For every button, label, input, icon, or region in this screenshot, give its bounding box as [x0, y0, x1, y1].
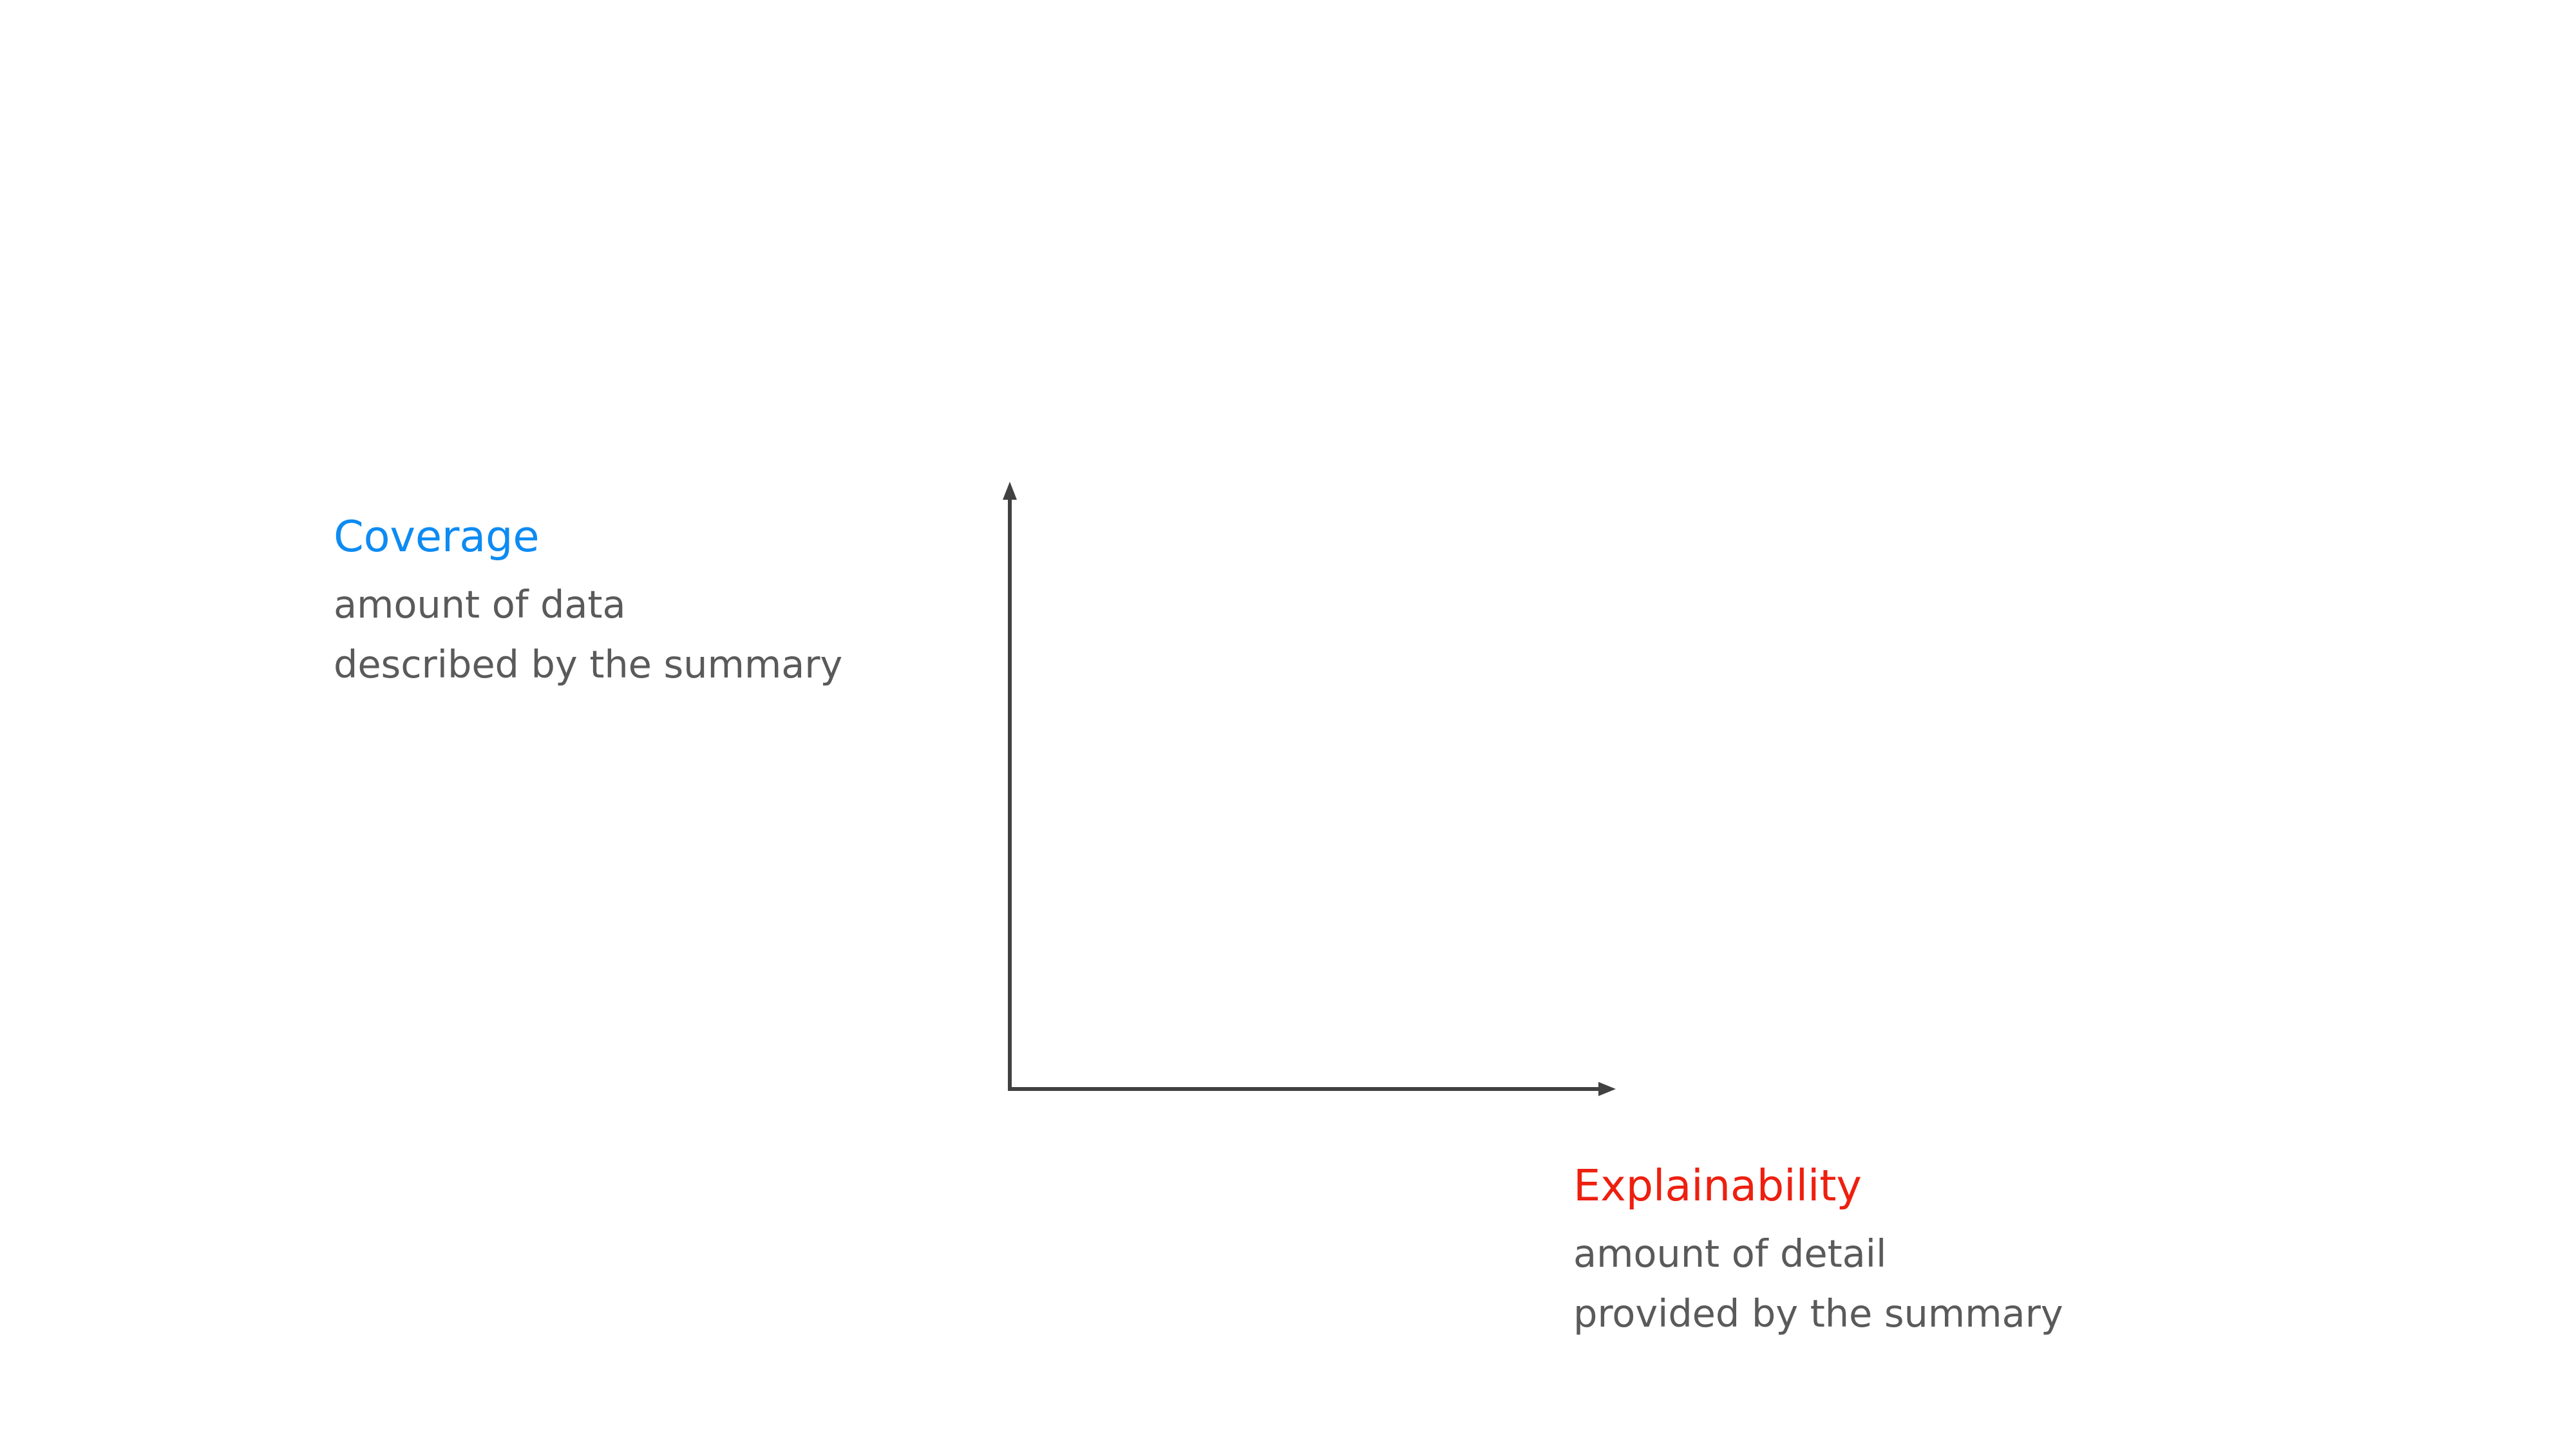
explainability-description-line-1: amount of detail [1573, 1235, 2063, 1273]
coverage-description-line-1: amount of data [334, 585, 842, 623]
y-axis-arrowhead-icon [1003, 482, 1017, 500]
coverage-axis-label-block: Coverage amount of data described by the… [334, 515, 842, 683]
explainability-axis-label-block: Explainability amount of detail provided… [1573, 1164, 2063, 1332]
coverage-axis-title: Coverage [334, 515, 842, 558]
axes-diagram [0, 0, 2576, 1449]
x-axis-arrowhead-icon [1598, 1082, 1616, 1096]
coverage-description-line-2: described by the summary [334, 645, 842, 683]
slide-canvas: Coverage amount of data described by the… [0, 0, 2576, 1449]
explainability-axis-title: Explainability [1573, 1164, 2063, 1207]
explainability-description-line-2: provided by the summary [1573, 1294, 2063, 1332]
